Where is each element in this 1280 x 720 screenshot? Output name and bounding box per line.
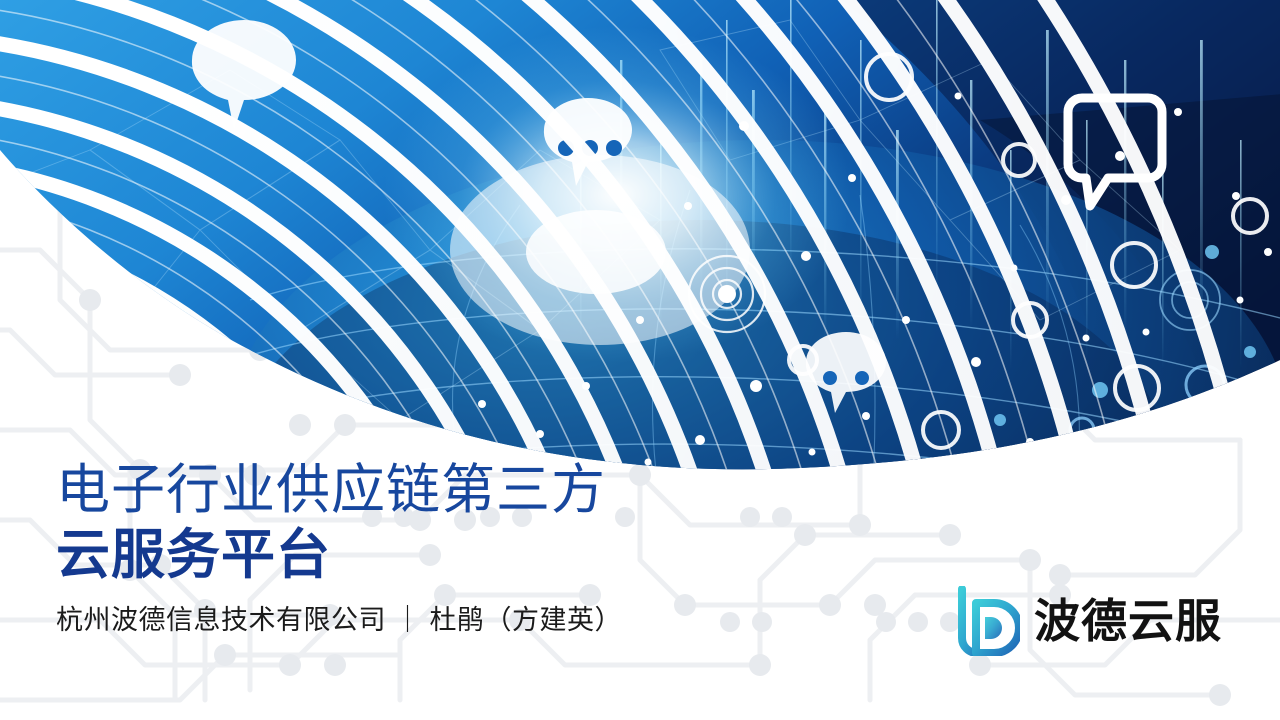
page-title-line-2: 云服务平台 <box>56 522 816 588</box>
company-logo: 波德云服 <box>954 586 1222 656</box>
tech-globe-artwork <box>0 0 1280 520</box>
logo-wordmark: 波德云服 <box>1034 598 1222 644</box>
bd-monogram-icon <box>954 586 1020 656</box>
presenter-subtitle: 杭州波德信息技术有限公司 ｜ 杜鹃（方建英） <box>56 602 816 638</box>
presentation-slide: 电子行业供应链第三方 云服务平台 杭州波德信息技术有限公司 ｜ 杜鹃（方建英） … <box>0 0 1280 720</box>
page-title-line-1: 电子行业供应链第三方 <box>56 458 816 522</box>
title-block: 电子行业供应链第三方 云服务平台 杭州波德信息技术有限公司 ｜ 杜鹃（方建英） <box>56 458 816 638</box>
